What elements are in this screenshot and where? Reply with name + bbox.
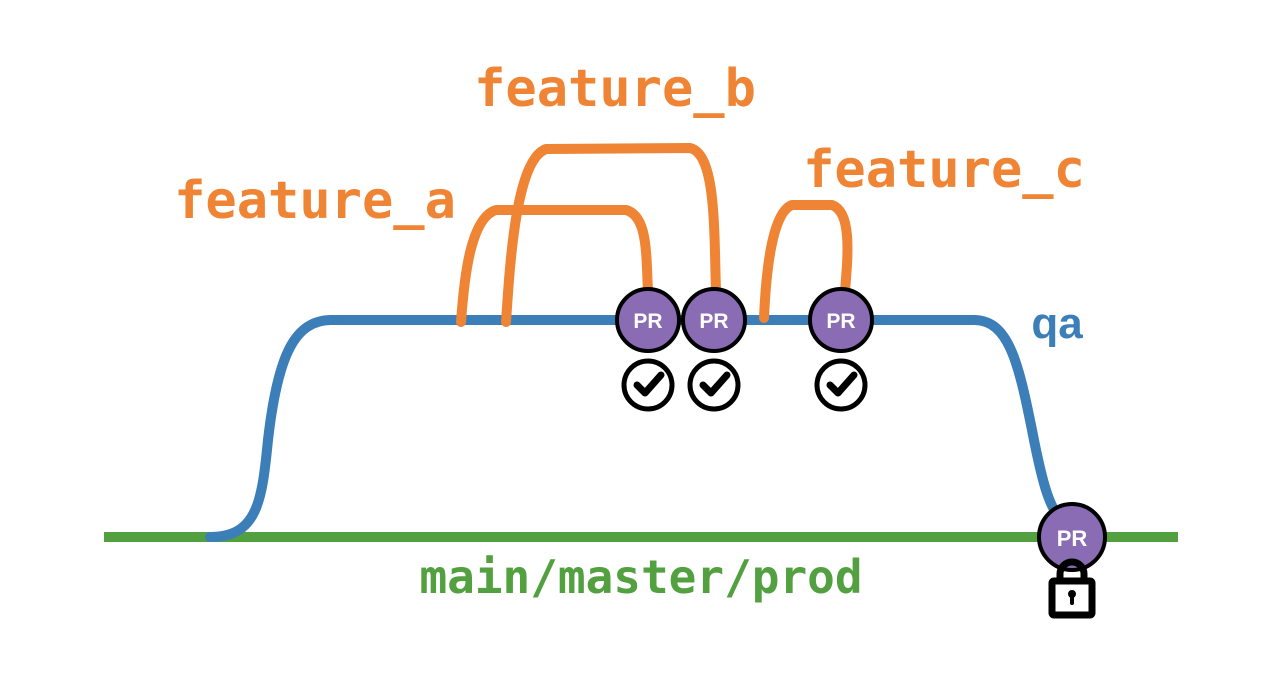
- pr-node-label: PR: [699, 310, 728, 333]
- pr-node-label: PR: [826, 310, 855, 333]
- feature-b-branch-line: [506, 148, 716, 322]
- qa-label: qa: [1031, 299, 1083, 348]
- feature-a-label: feature_a: [174, 171, 456, 231]
- check-circle-icon: [690, 361, 738, 409]
- pr-node-label: PR: [1057, 526, 1088, 551]
- check-circle-icon: [624, 361, 672, 409]
- pr-node-feature-b[interactable]: PR: [683, 289, 745, 351]
- qa-branch-line: [210, 320, 1068, 537]
- check-circle-icon: [817, 361, 865, 409]
- main-branch-label: main/master/prod: [419, 550, 862, 604]
- git-branch-diagram: PR PR PR PR: [0, 0, 1288, 678]
- feature-b-label: feature_b: [474, 59, 756, 119]
- branch-canvas: PR PR PR PR: [0, 0, 1288, 678]
- feature-c-label: feature_c: [803, 140, 1085, 200]
- pr-node-feature-a[interactable]: PR: [617, 289, 679, 351]
- pr-node-label: PR: [633, 310, 662, 333]
- pr-node-feature-c[interactable]: PR: [810, 289, 872, 351]
